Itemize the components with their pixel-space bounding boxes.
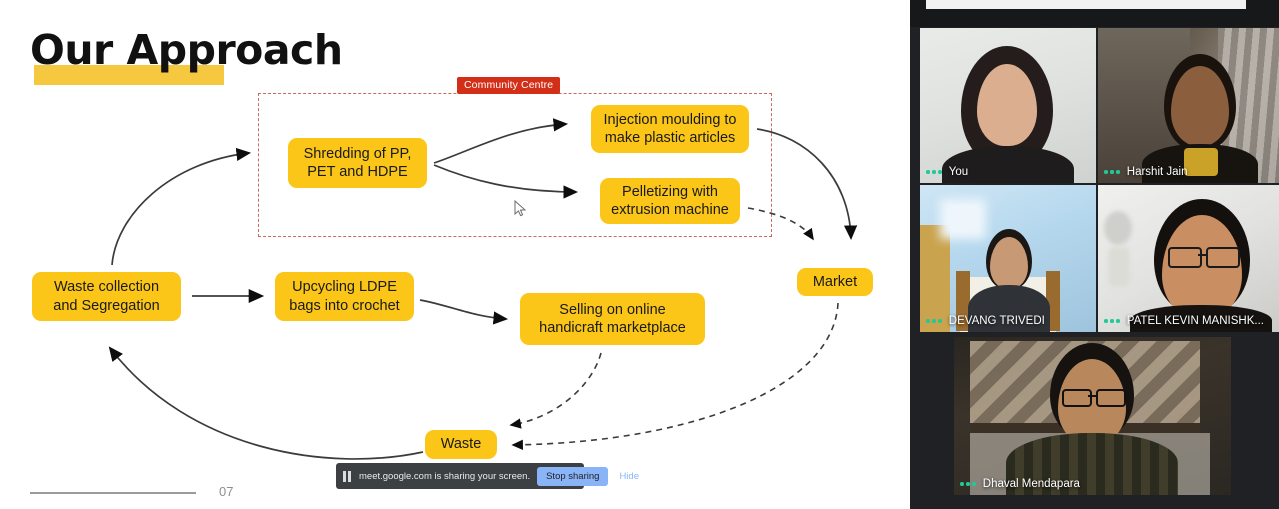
stop-sharing-button[interactable]: Stop sharing bbox=[537, 467, 608, 486]
participant-nametag: DEVANG TRIVEDI bbox=[926, 315, 1045, 327]
participant-tile-dhaval-mendapara[interactable]: Dhaval Mendapara bbox=[954, 337, 1231, 495]
node-pelletizing[interactable]: Pelletizing with extrusion machine bbox=[600, 178, 740, 224]
share-status-text: meet.google.com is sharing your screen. bbox=[359, 471, 530, 482]
participant-nametag: Harshit Jain bbox=[1104, 166, 1188, 178]
more-options-icon[interactable] bbox=[1104, 319, 1120, 323]
video-feed bbox=[1098, 185, 1279, 332]
participant-name: PATEL KEVIN MANISHK... bbox=[1127, 315, 1264, 327]
footer-divider bbox=[30, 492, 196, 494]
participant-tile-devang-trivedi[interactable]: DEVANG TRIVEDI bbox=[920, 185, 1096, 332]
video-feed bbox=[1098, 28, 1279, 183]
node-injection-moulding[interactable]: Injection moulding to make plastic artic… bbox=[591, 105, 749, 153]
community-centre-label: Community Centre bbox=[457, 77, 560, 94]
more-options-icon[interactable] bbox=[960, 482, 976, 486]
video-feed bbox=[954, 337, 1231, 495]
screen-root: Our Approach Community Centre bbox=[0, 0, 1279, 509]
more-options-icon[interactable] bbox=[1104, 170, 1120, 174]
mouse-cursor-icon bbox=[514, 200, 528, 218]
node-waste-collection[interactable]: Waste collection and Segregation bbox=[32, 272, 181, 321]
page-number: 07 bbox=[219, 484, 233, 499]
more-options-icon[interactable] bbox=[926, 170, 942, 174]
rail-top-strip bbox=[910, 0, 1279, 27]
participant-name: Harshit Jain bbox=[1127, 166, 1188, 178]
participant-nametag: You bbox=[926, 166, 968, 178]
video-feed bbox=[920, 28, 1096, 183]
participant-name: DEVANG TRIVEDI bbox=[949, 315, 1045, 327]
participant-nametag: PATEL KEVIN MANISHK... bbox=[1104, 315, 1264, 327]
participant-tile-you[interactable]: You bbox=[920, 28, 1096, 183]
participant-name: You bbox=[949, 166, 968, 178]
more-options-icon[interactable] bbox=[926, 319, 942, 323]
participant-tile-harshit-jain[interactable]: Harshit Jain bbox=[1098, 28, 1279, 183]
participant-name: Dhaval Mendapara bbox=[983, 478, 1080, 490]
node-selling-online[interactable]: Selling on online handicraft marketplace bbox=[520, 293, 705, 345]
page-title: Our Approach bbox=[30, 30, 343, 71]
hide-button[interactable]: Hide bbox=[615, 471, 643, 482]
participant-nametag: Dhaval Mendapara bbox=[960, 478, 1080, 490]
node-upcycling[interactable]: Upcycling LDPE bags into crochet bbox=[275, 272, 414, 321]
shared-slide: Our Approach Community Centre bbox=[0, 0, 910, 509]
node-shredding[interactable]: Shredding of PP, PET and HDPE bbox=[288, 138, 427, 188]
node-market[interactable]: Market bbox=[797, 268, 873, 296]
participant-tile-patel-kevin[interactable]: PATEL KEVIN MANISHK... bbox=[1098, 185, 1279, 332]
node-waste[interactable]: Waste bbox=[425, 430, 497, 459]
participant-rail: You Harshit Jain bbox=[910, 0, 1279, 509]
slide-title-group: Our Approach bbox=[30, 30, 343, 71]
video-feed bbox=[920, 185, 1096, 332]
pause-icon[interactable] bbox=[343, 471, 352, 482]
rail-top-lightbar bbox=[926, 0, 1246, 9]
screen-share-bar: meet.google.com is sharing your screen. … bbox=[336, 463, 584, 489]
